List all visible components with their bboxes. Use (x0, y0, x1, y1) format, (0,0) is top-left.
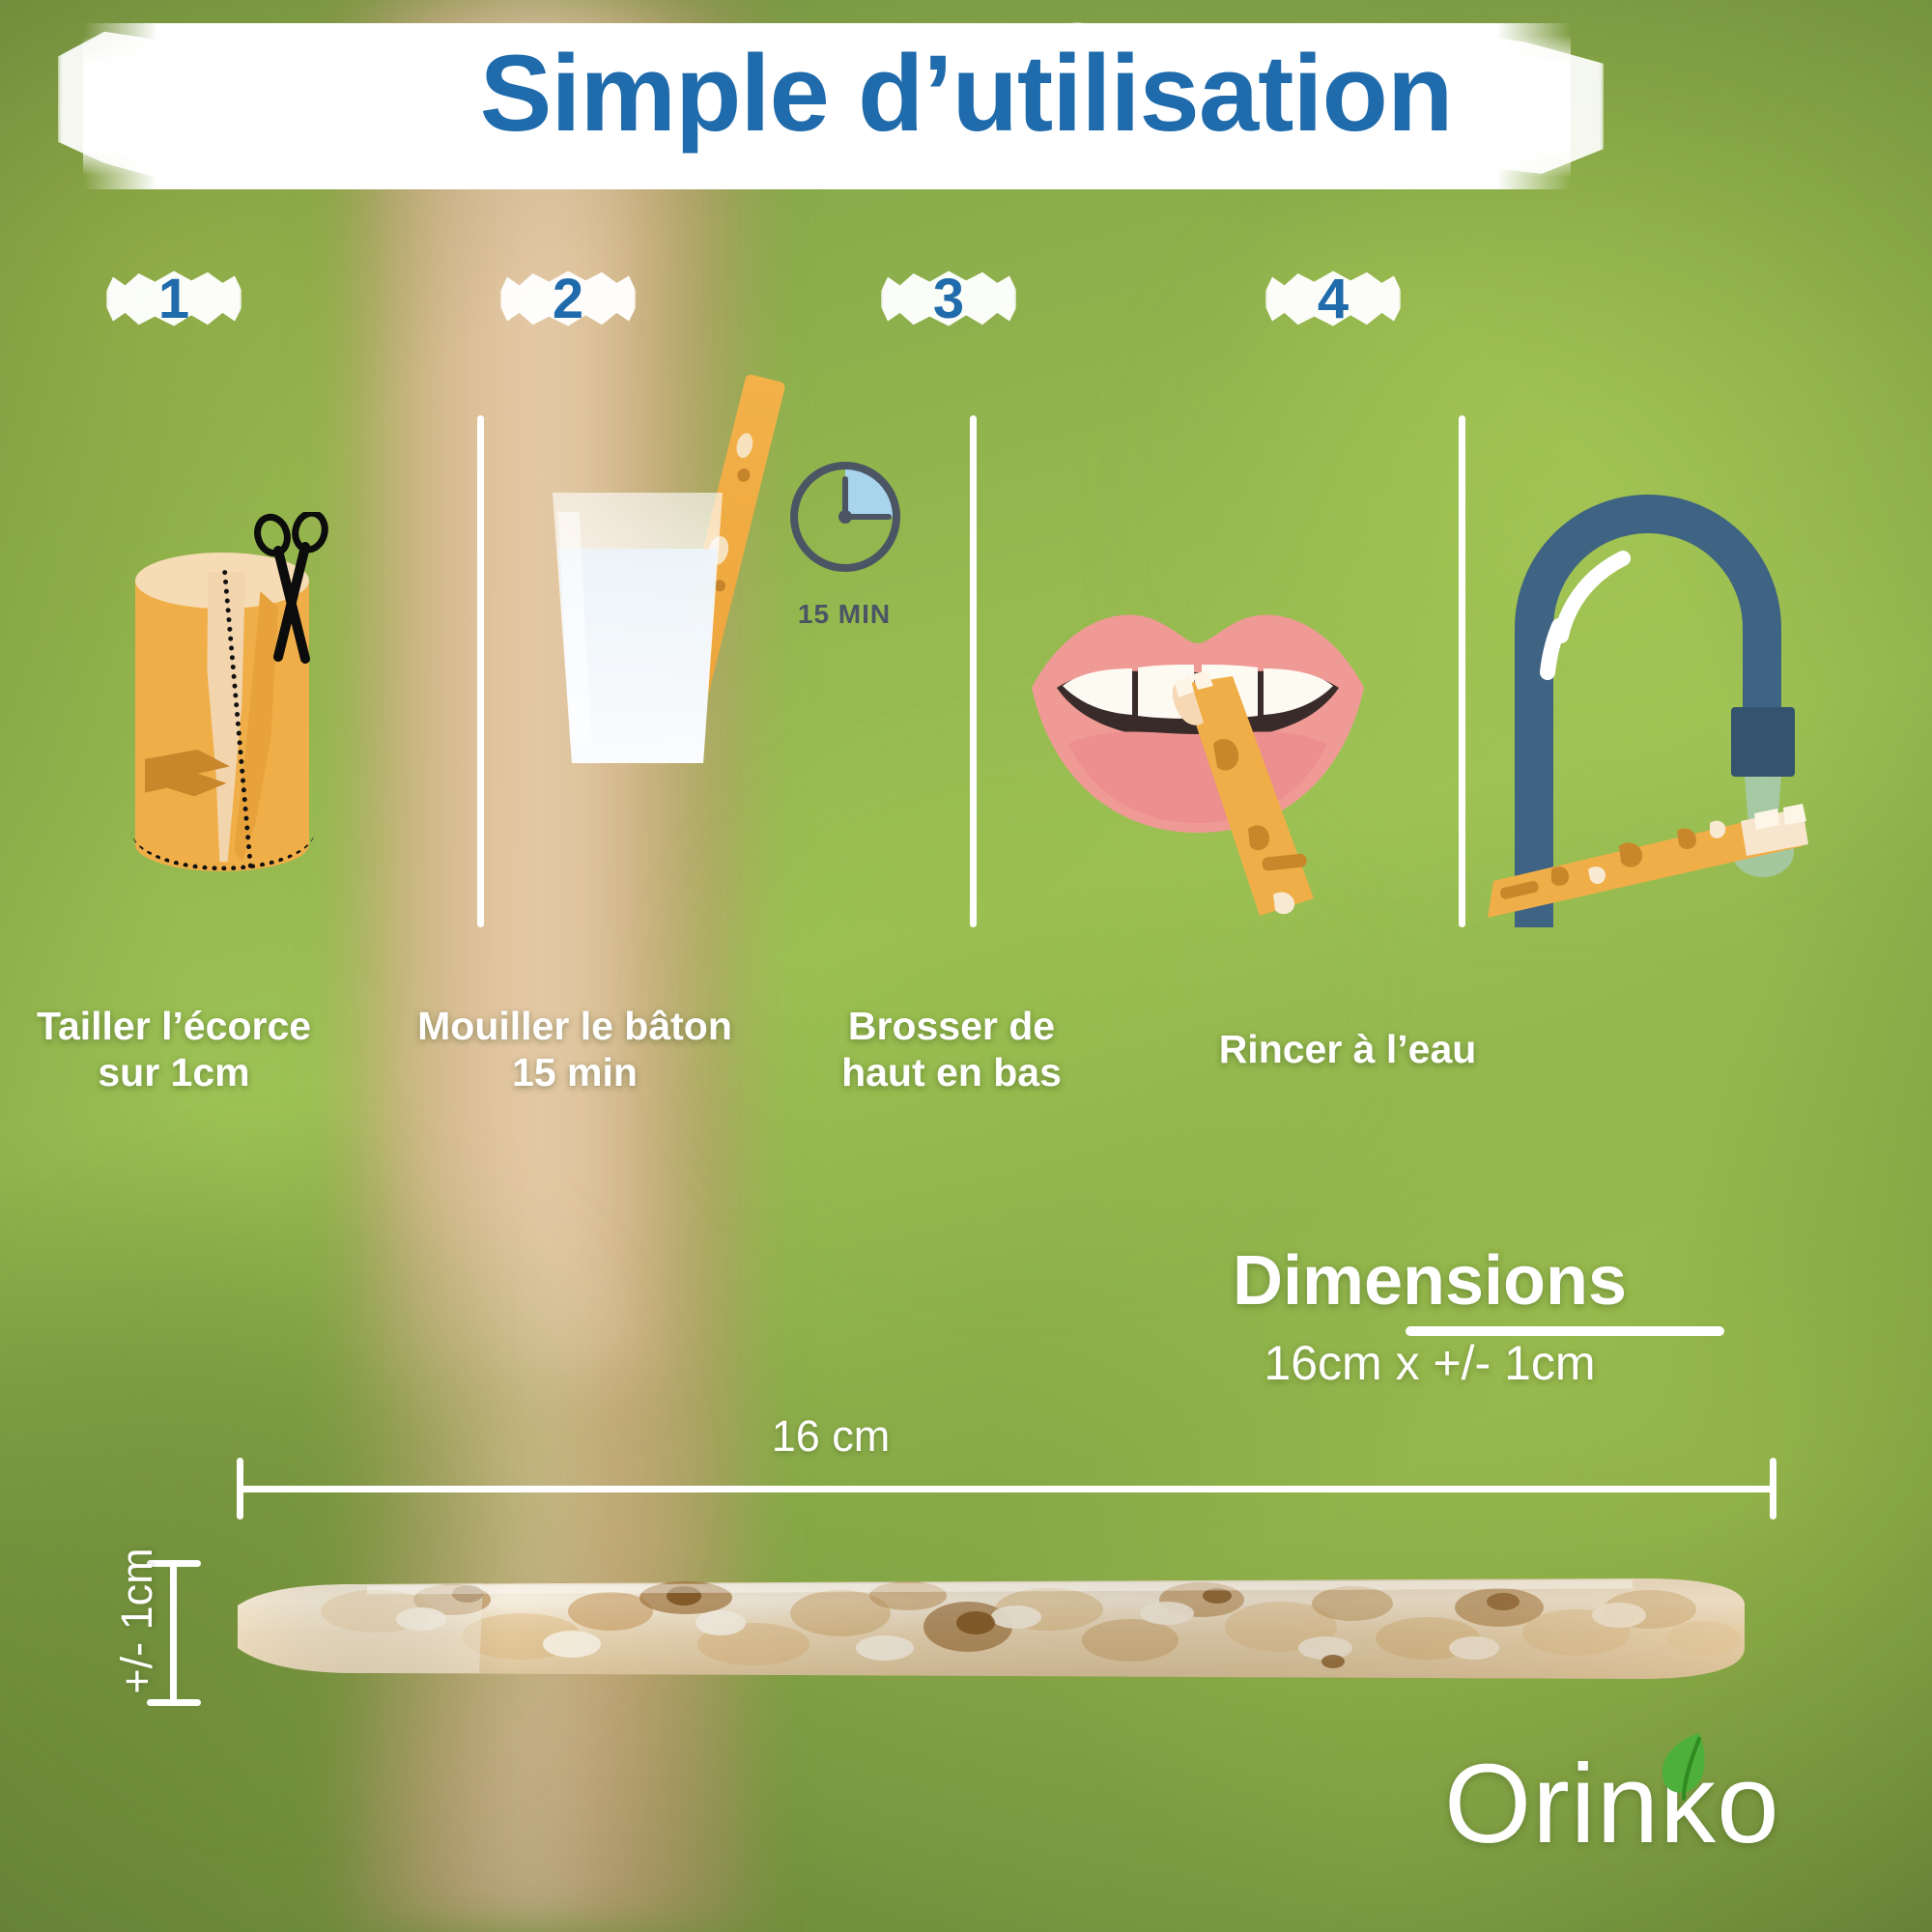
column-divider-1 (477, 415, 484, 927)
step-badge-4: 4 (1265, 269, 1401, 328)
dimensions-title: Dimensions (966, 1241, 1893, 1321)
length-measure-cap-right (1770, 1458, 1776, 1520)
step-caption-3-line2: haut en bas (749, 1049, 1154, 1095)
mouth-teeth-icon (1032, 615, 1364, 916)
length-measure-label: 16 cm (638, 1411, 1024, 1462)
step-caption-3: Brosser de haut en bas (749, 1003, 1154, 1096)
scissors-icon (249, 512, 336, 667)
dimensions-value: 16cm x +/- 1cm (966, 1335, 1893, 1391)
bark-cut-guide-horizontal (131, 831, 315, 870)
infographic-root: Simple d’utilisation 1 2 3 4 (0, 0, 1932, 1932)
step-caption-1-line1: Tailler l’écorce (0, 1003, 377, 1049)
step-number-4: 4 (1265, 269, 1401, 328)
step-2-illustration: 15 MIN (541, 357, 947, 927)
stick-speck (734, 432, 755, 460)
step-badge-1: 1 (106, 269, 241, 328)
column-divider-3 (1459, 415, 1465, 927)
column-divider-2 (970, 415, 977, 927)
step-caption-2-line1: Mouiller le bâton (372, 1003, 778, 1049)
step-1-illustration (126, 512, 377, 927)
step-caption-1-line2: sur 1cm (0, 1049, 377, 1095)
stick-speck-dark (736, 468, 752, 484)
step-badge-3: 3 (881, 269, 1016, 328)
brand-logo: Orinko (1444, 1739, 1889, 1884)
step-caption-2: Mouiller le bâton 15 min (372, 1003, 778, 1096)
step-caption-4: Rincer à l’eau (1145, 1026, 1550, 1072)
step-caption-3-line1: Brosser de (749, 1003, 1154, 1049)
step-number-3: 3 (881, 269, 1016, 328)
step-caption-1: Tailler l’écorce sur 1cm (0, 1003, 377, 1096)
page-title: Simple d’utilisation (0, 33, 1932, 154)
step-caption-2-line2: 15 min (372, 1049, 778, 1095)
thickness-measure-line (170, 1563, 177, 1706)
step-caption-4-line1: Rincer à l’eau (1145, 1026, 1550, 1072)
timer-label: 15 MIN (748, 599, 941, 630)
leaf-icon (1655, 1729, 1709, 1806)
length-measure-line (240, 1486, 1773, 1492)
thickness-measure-label: +/- 1cm (112, 1466, 162, 1776)
step-3-illustration (1024, 580, 1372, 927)
product-photo-stick (232, 1555, 1748, 1710)
step-badge-2: 2 (500, 269, 636, 328)
clock-icon (782, 454, 908, 580)
step-number-1: 1 (106, 269, 241, 328)
step-number-2: 2 (500, 269, 636, 328)
length-measure-cap-left (237, 1458, 243, 1520)
step-4-illustration (1488, 464, 1913, 927)
